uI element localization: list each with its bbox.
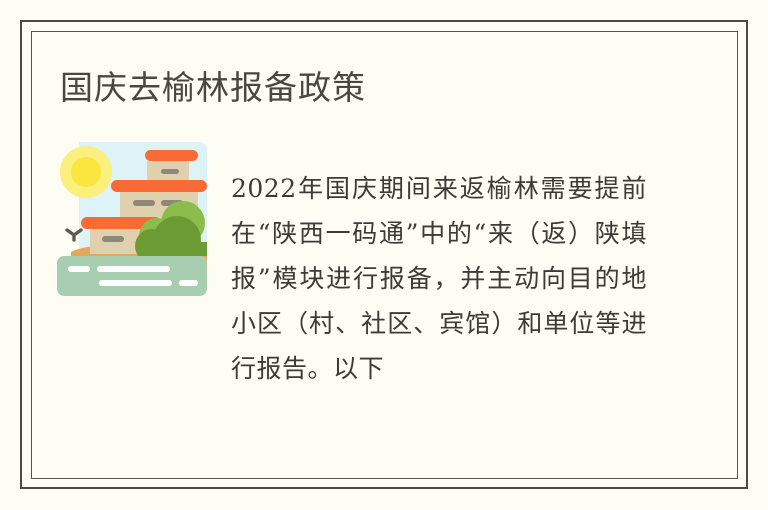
page-title: 国庆去榆林报备政策 [60, 66, 366, 110]
sun-core-icon [71, 157, 101, 187]
building-lower-window [102, 236, 124, 242]
illustration-svg [57, 142, 207, 296]
water-ripple-2 [97, 266, 170, 272]
article-card: 国庆去榆林报备政策 [0, 0, 768, 510]
water-ripple-3 [99, 280, 172, 286]
building-upper-roof [145, 150, 198, 161]
article-body-text: 2022年国庆期间来返榆林需要提前在“陕西一码通”中的“来（返）陕填报”模块进行… [231, 166, 647, 391]
water-ripple-1 [68, 266, 90, 272]
water-panel [57, 256, 207, 296]
building-middle-window-left [133, 200, 155, 206]
building-middle-roof [111, 180, 207, 192]
building-upper-window [161, 169, 179, 174]
tree-foliage-base [145, 242, 207, 256]
water-ripple-4 [179, 280, 198, 286]
terraced-landscape-illustration [57, 142, 207, 296]
